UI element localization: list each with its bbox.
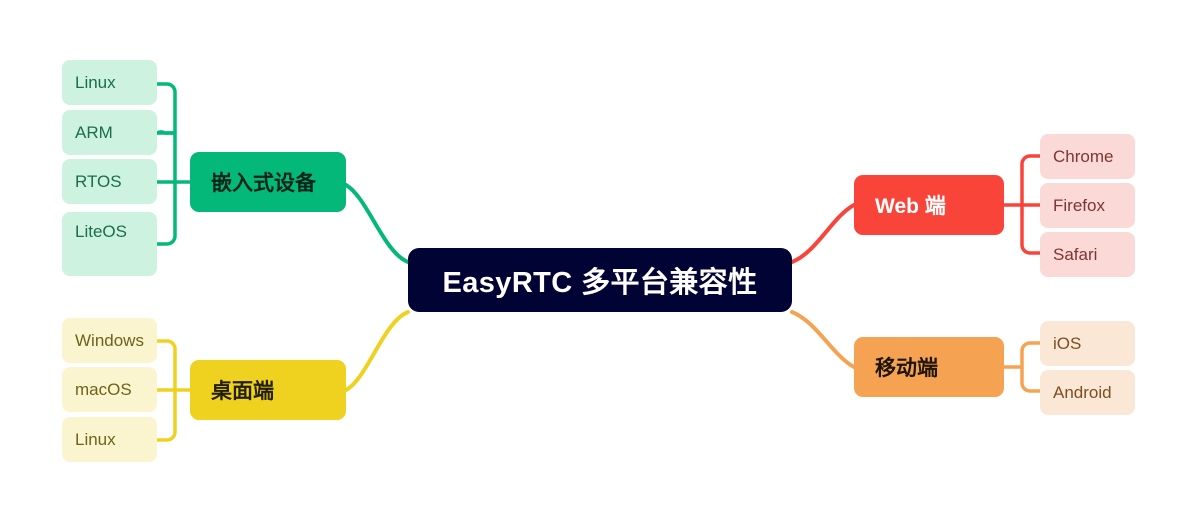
root-node[interactable]: EasyRTC 多平台兼容性	[408, 248, 792, 312]
root-node-label: EasyRTC 多平台兼容性	[443, 259, 758, 301]
branch-node-embedded[interactable]: 嵌入式设备	[190, 152, 346, 212]
leaf-label: iOS	[1053, 334, 1081, 354]
edge-embedded-leaf-arm	[157, 132, 175, 133]
edge-root-desktop	[346, 312, 408, 390]
leaf-node-embedded-rtos[interactable]: RTOS	[62, 159, 157, 204]
branch-node-desktop[interactable]: 桌面端	[190, 360, 346, 420]
leaf-label: ARM	[75, 123, 113, 143]
leaf-node-web-chrome[interactable]: Chrome	[1040, 134, 1135, 179]
branch-node-web[interactable]: Web 端	[854, 175, 1004, 235]
leaf-node-mobile-ios[interactable]: iOS	[1040, 321, 1135, 366]
leaf-node-embedded-linux[interactable]: Linux	[62, 60, 157, 105]
edge-embedded-bracket	[157, 84, 190, 244]
edge-desktop-bracket	[157, 341, 190, 440]
leaf-node-desktop-linux[interactable]: Linux	[62, 417, 157, 462]
edge-web-bracket	[1004, 156, 1040, 253]
leaf-label: Android	[1053, 383, 1112, 403]
leaf-node-embedded-liteos[interactable]: LiteOS	[62, 212, 157, 276]
mindmap-canvas: EasyRTC 多平台兼容性 嵌入式设备 Linux ARM RTOS Lite…	[0, 0, 1197, 521]
leaf-label: Linux	[75, 430, 116, 450]
branch-label-web: Web 端	[875, 190, 946, 220]
leaf-node-embedded-arm[interactable]: ARM	[62, 110, 157, 155]
branch-label-embedded: 嵌入式设备	[211, 167, 316, 197]
leaf-label: Firefox	[1053, 196, 1105, 216]
edge-root-mobile	[792, 312, 854, 367]
leaf-label: Chrome	[1053, 147, 1113, 167]
edge-root-embedded	[346, 185, 408, 262]
leaf-label: macOS	[75, 380, 132, 400]
leaf-node-desktop-macos[interactable]: macOS	[62, 367, 157, 412]
leaf-label: LiteOS	[75, 222, 127, 242]
branch-label-desktop: 桌面端	[211, 375, 274, 405]
leaf-label: Safari	[1053, 245, 1097, 265]
edge-mobile-bracket	[1004, 343, 1040, 391]
edge-root-web	[792, 205, 854, 262]
branch-label-mobile: 移动端	[875, 352, 938, 382]
leaf-label: RTOS	[75, 172, 122, 192]
leaf-node-mobile-android[interactable]: Android	[1040, 370, 1135, 415]
branch-node-mobile[interactable]: 移动端	[854, 337, 1004, 397]
leaf-label: Windows	[75, 331, 144, 351]
leaf-label: Linux	[75, 73, 116, 93]
leaf-node-web-safari[interactable]: Safari	[1040, 232, 1135, 277]
leaf-node-desktop-windows[interactable]: Windows	[62, 318, 157, 363]
leaf-node-web-firefox[interactable]: Firefox	[1040, 183, 1135, 228]
